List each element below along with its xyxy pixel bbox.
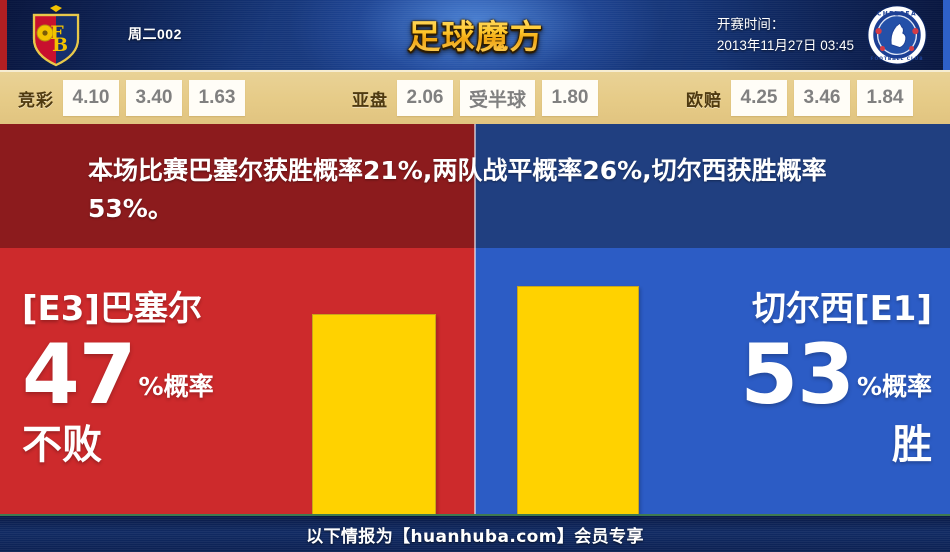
odds-group-label: 竞彩: [18, 86, 54, 111]
brand-logo: 足球魔方: [398, 8, 553, 60]
home-percent-row: 47 %概率: [22, 336, 284, 414]
probability-bar-away: [517, 286, 639, 516]
away-team-name: 切尔西[E1]: [670, 288, 932, 330]
probability-bar-home: [312, 314, 436, 516]
probability-headline: 本场比赛巴塞尔获胜概率21%,两队战平概率26%,切尔西获胜概率53%。: [88, 152, 868, 228]
home-team-name: [E3]巴塞尔: [22, 288, 284, 330]
footer-top-rule: [0, 514, 950, 516]
kickoff-time: 2013年11月27日 03:45: [717, 35, 854, 56]
odds-group-label: 欧赔: [686, 86, 722, 111]
header-right-blue-edge: [943, 0, 950, 70]
odds-group-jingcai: 竞彩 4.10 3.40 1.63: [18, 80, 252, 116]
fc-basel-crest-icon: F B: [24, 3, 88, 67]
footer-bar: 以下情报为【huanhuba.com】会员专享: [0, 516, 950, 552]
header-left-red-edge: [0, 0, 7, 70]
odds-group-label: 亚盘: [352, 86, 388, 111]
kickoff-block: 开赛时间： 2013年11月27日 03:45: [717, 14, 854, 56]
odds-cell-home[interactable]: 2.06: [397, 80, 453, 116]
match-number: 周二002: [128, 24, 182, 44]
footer-notice: 以下情报为【huanhuba.com】会员专享: [306, 522, 644, 547]
odds-cell-handicap[interactable]: 受半球: [460, 80, 535, 116]
away-team-block: 切尔西[E1] 53 %概率 胜: [670, 288, 932, 470]
home-team-block: [E3]巴塞尔 47 %概率 不败: [22, 288, 284, 470]
odds-bar: 竞彩 4.10 3.40 1.63 亚盘 2.06 受半球 1.80 欧赔 4.…: [0, 70, 950, 124]
odds-group-asian-handicap: 亚盘 2.06 受半球 1.80: [352, 80, 605, 116]
chelsea-crest-icon: CHELSEA FOOTBALL CLUB: [866, 4, 928, 66]
away-percent-row: 53 %概率: [670, 336, 932, 414]
kickoff-label: 开赛时间：: [717, 14, 854, 35]
odds-cell-home[interactable]: 4.25: [731, 80, 787, 116]
away-percent-unit: %概率: [854, 370, 932, 414]
away-outcome-label: 胜: [670, 420, 932, 470]
svg-text:CHELSEA: CHELSEA: [877, 11, 917, 18]
odds-cell-away[interactable]: 1.63: [189, 80, 245, 116]
odds-cell-away[interactable]: 1.84: [857, 80, 913, 116]
match-probability-infographic: F B CHELSEA FOOTBALL CLUB 周二002 足球魔方 开赛时…: [0, 0, 950, 552]
svg-text:FOOTBALL CLUB: FOOTBALL CLUB: [870, 56, 923, 62]
odds-cell-home[interactable]: 4.10: [63, 80, 119, 116]
odds-cell-away[interactable]: 1.80: [542, 80, 598, 116]
odds-cell-draw[interactable]: 3.40: [126, 80, 182, 116]
home-percent-value: 47: [22, 336, 136, 414]
odds-cell-draw[interactable]: 3.46: [794, 80, 850, 116]
away-percent-value: 53: [740, 336, 854, 414]
home-outcome-label: 不败: [22, 420, 284, 470]
home-percent-unit: %概率: [136, 370, 214, 414]
odds-group-european: 欧赔 4.25 3.46 1.84: [686, 80, 920, 116]
svg-text:B: B: [52, 34, 68, 56]
